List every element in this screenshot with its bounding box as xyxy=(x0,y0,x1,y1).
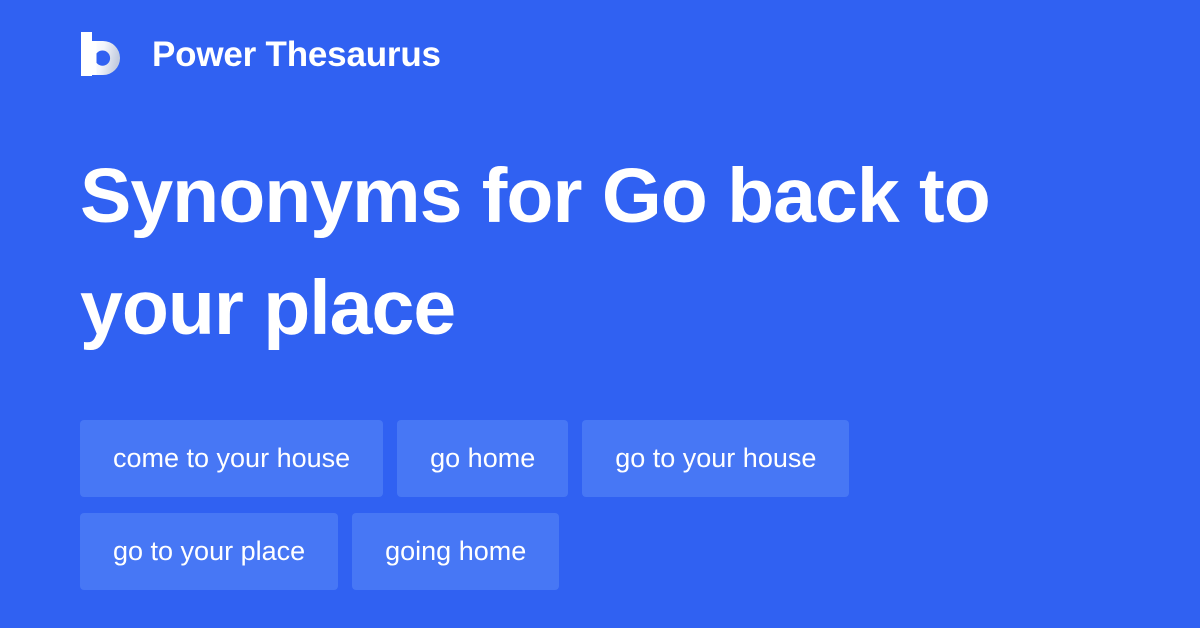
synonym-tag[interactable]: come to your house xyxy=(80,420,383,497)
brand-name: Power Thesaurus xyxy=(152,37,441,72)
synonym-tag[interactable]: going home xyxy=(352,513,559,590)
synonym-tag-list: come to your house go home go to your ho… xyxy=(80,420,1120,590)
synonym-tag[interactable]: go home xyxy=(397,420,568,497)
brand-lockup[interactable]: Power Thesaurus xyxy=(80,28,441,80)
power-thesaurus-b-logo-icon xyxy=(80,31,126,77)
page-title: Synonyms for Go back to your place xyxy=(80,140,1080,364)
synonym-tag[interactable]: go to your place xyxy=(80,513,338,590)
share-card: Power Thesaurus Synonyms for Go back to … xyxy=(0,0,1200,628)
synonym-tag[interactable]: go to your house xyxy=(582,420,849,497)
